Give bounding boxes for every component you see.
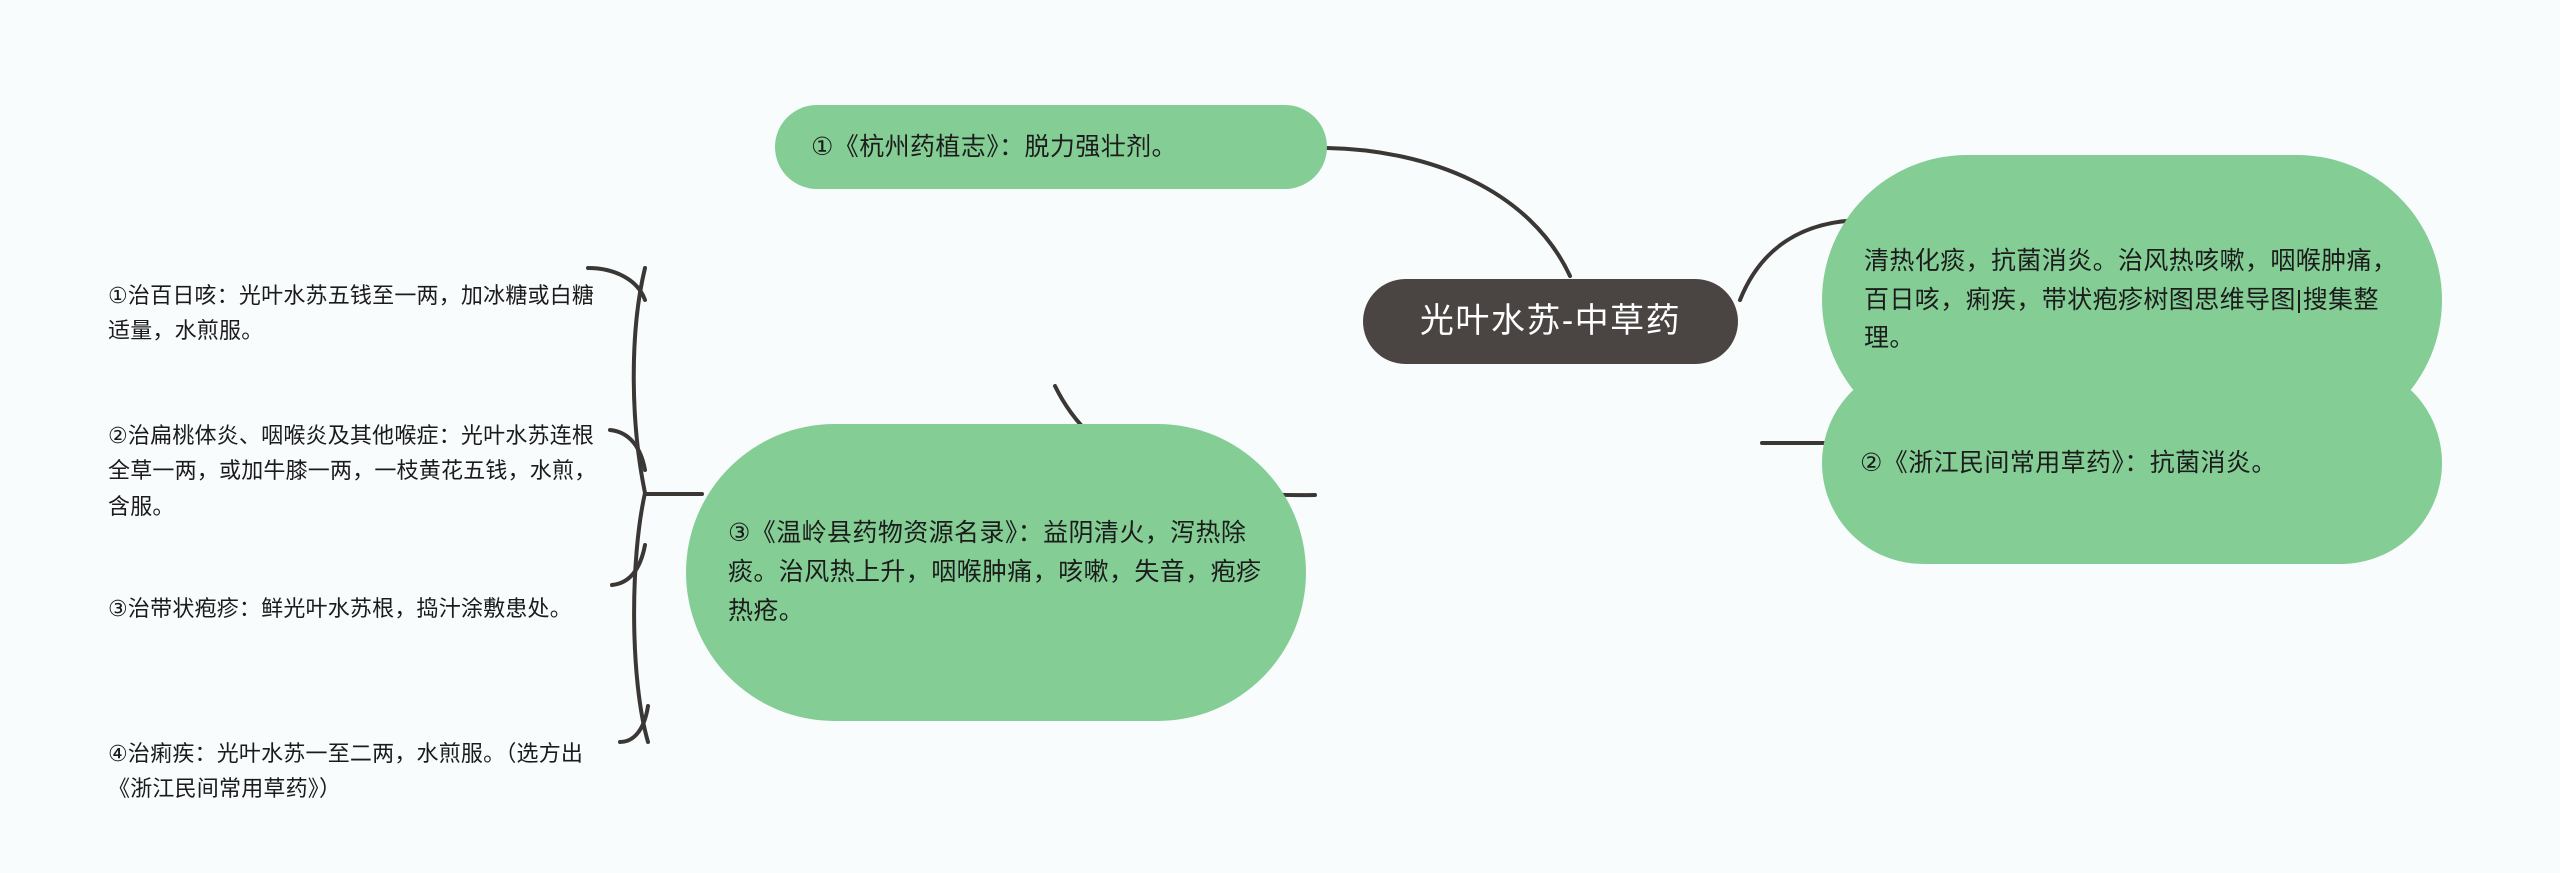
leaf-item-1-label: ①治百日咳：光叶水苏五钱至一两，加冰糖或白糖适量，水煎服。 <box>108 283 594 344</box>
leaf-item-4-label: ④治痢疾：光叶水苏一至二两，水煎服。（选方出《浙江民间常用草药》） <box>108 741 583 802</box>
connector-leaf-3 <box>612 545 645 585</box>
node-right-top-label: 清热化痰，抗菌消炎。治风热咳嗽，咽喉肿痛，百日咳，痢疾，带状疱疹树图思维导图|搜… <box>1864 242 2400 358</box>
connector-leaf-4 <box>620 706 648 742</box>
node-top[interactable]: ①《杭州药植志》：脱力强壮剂。 <box>775 105 1327 189</box>
connector-root-to-top <box>1327 148 1570 276</box>
leaf-item-1[interactable]: ①治百日咳：光叶水苏五钱至一两，加冰糖或白糖适量，水煎服。 <box>108 242 616 349</box>
leaf-item-2[interactable]: ②治扁桃体炎、咽喉炎及其他喉症：光叶水苏连根全草一两，或加牛膝一两，一枝黄花五钱… <box>108 382 616 525</box>
node-top-label: ①《杭州药植志》：脱力强壮剂。 <box>811 128 1177 167</box>
node-bottom-left-label: ③《温岭县药物资源名录》：益阴清火，泻热除痰。治风热上升，咽喉肿痛，咳嗽，失音，… <box>728 514 1264 630</box>
root-node-label: 光叶水苏-中草药 <box>1420 301 1681 342</box>
mindmap-canvas: 光叶水苏-中草药 ①《杭州药植志》：脱力强壮剂。 清热化痰，抗菌消炎。治风热咳嗽… <box>0 0 2560 873</box>
root-node[interactable]: 光叶水苏-中草药 <box>1363 279 1738 364</box>
left-spine <box>634 268 648 742</box>
leaf-item-3[interactable]: ③治带状疱疹：鲜光叶水苏根，捣汁涂敷患处。 <box>108 555 616 626</box>
leaf-item-2-label: ②治扁桃体炎、咽喉炎及其他喉症：光叶水苏连根全草一两，或加牛膝一两，一枝黄花五钱… <box>108 423 596 519</box>
node-right-bottom[interactable]: ②《浙江民间常用草药》：抗菌消炎。 <box>1822 362 2442 564</box>
node-right-bottom-label: ②《浙江民间常用草药》：抗菌消炎。 <box>1860 444 2277 483</box>
node-bottom-left[interactable]: ③《温岭县药物资源名录》：益阴清火，泻热除痰。治风热上升，咽喉肿痛，咳嗽，失音，… <box>686 424 1306 721</box>
leaf-item-4[interactable]: ④治痢疾：光叶水苏一至二两，水煎服。（选方出《浙江民间常用草药》） <box>108 700 616 807</box>
leaf-item-3-label: ③治带状疱疹：鲜光叶水苏根，捣汁涂敷患处。 <box>108 596 572 621</box>
